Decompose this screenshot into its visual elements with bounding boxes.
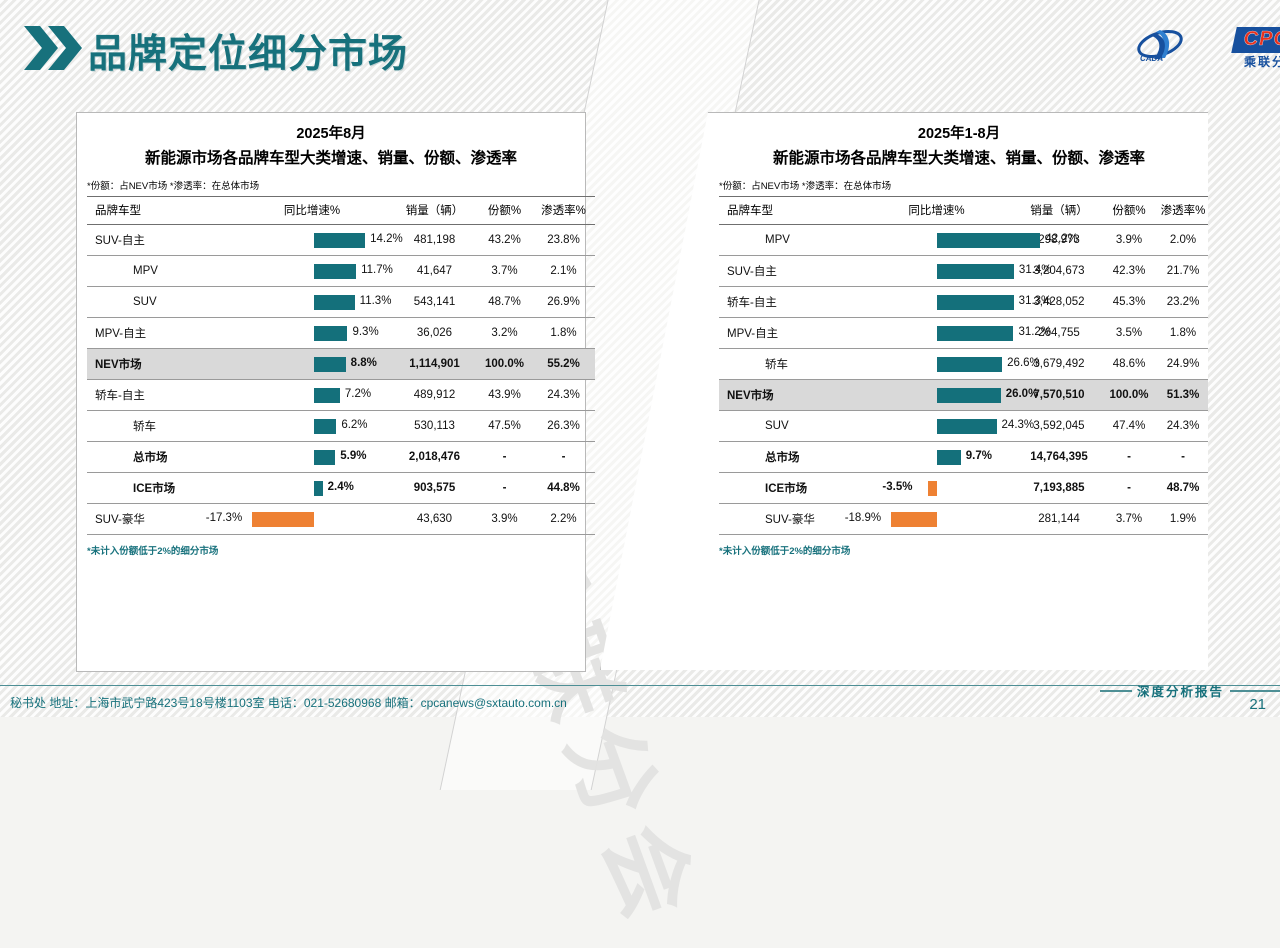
cell-share: 3.7%	[1104, 504, 1154, 535]
growth-bar	[937, 233, 1040, 248]
table-row: SUV-自主14.2%481,19843.2%23.8%	[87, 225, 595, 256]
growth-value-label: 26.0%	[1006, 387, 1039, 402]
table-row: NEV市场26.0%7,570,510100.0%51.3%	[719, 380, 1212, 411]
cell-penetration: 24.3%	[1154, 411, 1212, 442]
cell-growth-bar: 5.9%	[232, 442, 392, 473]
growth-bar	[937, 264, 1014, 279]
table-body: MPV42.2%298,9733.9%2.0%SUV-自主31.4%3,204,…	[719, 225, 1212, 535]
cell-share: 47.4%	[1104, 411, 1154, 442]
cell-sales: 2,018,476	[392, 442, 477, 473]
cell-sales: 281,144	[1014, 504, 1104, 535]
table-row: 轿车26.6%3,679,49248.6%24.9%	[719, 349, 1212, 380]
cell-share: 100.0%	[477, 349, 532, 380]
cell-model-name: SUV	[87, 287, 232, 318]
cell-sales: 903,575	[392, 473, 477, 504]
cell-model-name: 总市场	[719, 442, 859, 473]
growth-value-label: 2.4%	[328, 480, 354, 495]
growth-value-label: -18.9%	[845, 511, 881, 526]
table-row: SUV-自主31.4%3,204,67342.3%21.7%	[719, 256, 1212, 287]
cell-growth-bar: 9.7%	[859, 442, 1014, 473]
table-row: ICE市场-3.5%7,193,885-48.7%	[719, 473, 1212, 504]
growth-value-label: 11.3%	[360, 294, 392, 309]
logo-wordmark: CPCA 乘联分会	[1184, 26, 1262, 70]
footer-dash-left	[1100, 690, 1132, 692]
table-header-row: 品牌车型 同比增速% 销量（辆） 份额% 渗透率%	[87, 197, 595, 225]
panel-footnote: *未计入份额低于2%的细分市场	[719, 543, 1199, 557]
cell-model-name: 总市场	[87, 442, 232, 473]
cell-growth-bar: 31.3%	[859, 287, 1014, 318]
cell-model-name: NEV市场	[719, 380, 859, 411]
cell-model-name: SUV-自主	[87, 225, 232, 256]
col-share: 份额%	[477, 197, 532, 225]
growth-bar	[314, 233, 365, 248]
col-name: 品牌车型	[719, 197, 859, 225]
growth-bar	[314, 264, 356, 279]
growth-bar	[937, 388, 1001, 403]
cell-sales: 481,198	[392, 225, 477, 256]
cell-penetration: 55.2%	[532, 349, 595, 380]
cell-model-name: MPV-自主	[719, 318, 859, 349]
col-sales: 销量（辆）	[392, 197, 477, 225]
growth-value-label: 31.2%	[1018, 325, 1051, 340]
cell-growth-bar: 31.4%	[859, 256, 1014, 287]
cell-model-name: ICE市场	[87, 473, 232, 504]
growth-value-label: 8.8%	[351, 356, 377, 371]
growth-bar	[314, 481, 323, 496]
growth-bar	[928, 481, 937, 496]
cell-penetration: -	[532, 442, 595, 473]
table-row: SUV-豪华-18.9%281,1443.7%1.9%	[719, 504, 1212, 535]
footer-report-label: 深度分析报告	[1137, 681, 1224, 700]
table-body: SUV-自主14.2%481,19843.2%23.8%MPV11.7%41,6…	[87, 225, 595, 535]
table-row: SUV11.3%543,14148.7%26.9%	[87, 287, 595, 318]
logo-chinese-text: 乘联分会	[1234, 53, 1280, 70]
cell-penetration: 1.9%	[1154, 504, 1212, 535]
cell-growth-bar: 26.0%	[859, 380, 1014, 411]
market-table-2025-01-08: 品牌车型 同比增速% 销量（辆） 份额% 渗透率% MPV42.2%298,97…	[719, 196, 1212, 535]
col-growth: 同比增速%	[232, 197, 392, 225]
cell-penetration: 2.0%	[1154, 225, 1212, 256]
cell-sales: 14,764,395	[1014, 442, 1104, 473]
table-row: MPV11.7%41,6473.7%2.1%	[87, 256, 595, 287]
cell-growth-bar: -3.5%	[859, 473, 1014, 504]
growth-bar	[937, 326, 1013, 341]
cell-share: 3.2%	[477, 318, 532, 349]
growth-bar	[314, 295, 355, 310]
cell-growth-bar: 7.2%	[232, 380, 392, 411]
growth-value-label: 6.2%	[341, 418, 367, 433]
cell-sales: 41,647	[392, 256, 477, 287]
cell-growth-bar: -18.9%	[859, 504, 1014, 535]
cell-growth-bar: 24.3%	[859, 411, 1014, 442]
growth-bar	[314, 450, 335, 465]
cell-growth-bar: 26.6%	[859, 349, 1014, 380]
cell-model-name: MPV	[87, 256, 232, 287]
cell-penetration: 1.8%	[532, 318, 595, 349]
growth-bar	[891, 512, 937, 527]
panel-subtitle: 新能源市场各品牌车型大类增速、销量、份额、渗透率	[719, 146, 1199, 168]
cell-model-name: 轿车	[87, 411, 232, 442]
col-share: 份额%	[1104, 197, 1154, 225]
table-row: MPV-自主31.2%264,7553.5%1.8%	[719, 318, 1212, 349]
cell-penetration: 21.7%	[1154, 256, 1212, 287]
growth-value-label: -17.3%	[206, 511, 242, 526]
table-row: MPV-自主9.3%36,0263.2%1.8%	[87, 318, 595, 349]
cell-growth-bar: 6.2%	[232, 411, 392, 442]
growth-value-label: 9.3%	[352, 325, 378, 340]
col-penetration: 渗透率%	[532, 197, 595, 225]
cell-penetration: -	[1154, 442, 1212, 473]
footer-contact: 秘书处 地址：上海市武宁路423号18号楼1103室 电话：021-526809…	[10, 694, 567, 711]
cell-share: 3.9%	[477, 504, 532, 535]
cell-growth-bar: 8.8%	[232, 349, 392, 380]
cell-share: 3.5%	[1104, 318, 1154, 349]
cell-model-name: NEV市场	[87, 349, 232, 380]
col-penetration: 渗透率%	[1154, 197, 1212, 225]
cell-share: 43.9%	[477, 380, 532, 411]
cell-share: -	[477, 473, 532, 504]
cell-growth-bar: 14.2%	[232, 225, 392, 256]
panel-period-title: 2025年8月	[87, 122, 575, 143]
panel-note: *份额：占NEV市场 *渗透率：在总体市场	[87, 178, 575, 192]
panel-footnote: *未计入份额低于2%的细分市场	[87, 543, 575, 557]
cell-penetration: 26.3%	[532, 411, 595, 442]
col-growth: 同比增速%	[859, 197, 1014, 225]
growth-value-label: 31.4%	[1019, 263, 1052, 278]
cell-sales: 7,193,885	[1014, 473, 1104, 504]
cell-model-name: ICE市场	[719, 473, 859, 504]
growth-bar	[252, 512, 314, 527]
cell-penetration: 2.1%	[532, 256, 595, 287]
growth-value-label: 9.7%	[966, 449, 992, 464]
cell-share: -	[1104, 473, 1154, 504]
table-row: 轿车-自主31.3%3,428,05245.3%23.2%	[719, 287, 1212, 318]
growth-bar	[937, 295, 1014, 310]
table-row: NEV市场8.8%1,114,901100.0%55.2%	[87, 349, 595, 380]
cell-penetration: 1.8%	[1154, 318, 1212, 349]
table-row: 轿车-自主7.2%489,91243.9%24.3%	[87, 380, 595, 411]
cell-share: 3.7%	[477, 256, 532, 287]
cell-sales: 489,912	[392, 380, 477, 411]
cell-model-name: MPV	[719, 225, 859, 256]
cell-penetration: 26.9%	[532, 287, 595, 318]
growth-bar	[314, 357, 346, 372]
cell-model-name: 轿车-自主	[87, 380, 232, 411]
cell-share: 45.3%	[1104, 287, 1154, 318]
cell-sales: 543,141	[392, 287, 477, 318]
cell-model-name: SUV-自主	[719, 256, 859, 287]
table-header-row: 品牌车型 同比增速% 销量（辆） 份额% 渗透率%	[719, 197, 1212, 225]
cell-model-name: MPV-自主	[87, 318, 232, 349]
logo-sub-text: CADA	[1140, 54, 1163, 63]
cell-sales: 1,114,901	[392, 349, 477, 380]
growth-bar	[937, 450, 961, 465]
growth-value-label: 24.3%	[1002, 418, 1035, 433]
cell-growth-bar: 9.3%	[232, 318, 392, 349]
growth-value-label: -3.5%	[882, 480, 912, 495]
panel-note: *份额：占NEV市场 *渗透率：在总体市场	[719, 178, 1199, 192]
footer-divider	[0, 685, 1280, 686]
growth-value-label: 26.6%	[1007, 356, 1040, 371]
growth-value-label: 7.2%	[345, 387, 371, 402]
cell-penetration: 2.2%	[532, 504, 595, 535]
cell-share: 47.5%	[477, 411, 532, 442]
cell-penetration: 24.9%	[1154, 349, 1212, 380]
growth-bar	[314, 419, 336, 434]
cell-penetration: 23.2%	[1154, 287, 1212, 318]
table-row: MPV42.2%298,9733.9%2.0%	[719, 225, 1212, 256]
cell-share: -	[1104, 442, 1154, 473]
cell-penetration: 51.3%	[1154, 380, 1212, 411]
cell-share: 48.7%	[477, 287, 532, 318]
growth-value-label: 31.3%	[1019, 294, 1052, 309]
market-table-2025-08: 品牌车型 同比增速% 销量（辆） 份额% 渗透率% SUV-自主14.2%481…	[87, 196, 595, 535]
cell-sales: 43,630	[392, 504, 477, 535]
table-row: ICE市场2.4%903,575-44.8%	[87, 473, 595, 504]
growth-bar	[314, 388, 340, 403]
panel-subtitle: 新能源市场各品牌车型大类增速、销量、份额、渗透率	[87, 146, 575, 168]
logo-brand-text: CPCA	[1238, 28, 1280, 51]
cell-model-name: SUV-豪华	[719, 504, 859, 535]
cell-growth-bar: 42.2%	[859, 225, 1014, 256]
table-row: 轿车6.2%530,11347.5%26.3%	[87, 411, 595, 442]
table-row: 总市场5.9%2,018,476--	[87, 442, 595, 473]
cell-share: -	[477, 442, 532, 473]
cell-share: 43.2%	[477, 225, 532, 256]
table-row: SUV-豪华-17.3%43,6303.9%2.2%	[87, 504, 595, 535]
cell-sales: 36,026	[392, 318, 477, 349]
cell-growth-bar: 11.3%	[232, 287, 392, 318]
cell-sales: 530,113	[392, 411, 477, 442]
double-chevron-right-icon	[24, 26, 84, 70]
cell-growth-bar: 2.4%	[232, 473, 392, 504]
cell-penetration: 24.3%	[532, 380, 595, 411]
growth-bar	[314, 326, 347, 341]
cell-growth-bar: -17.3%	[232, 504, 392, 535]
cell-model-name: SUV	[719, 411, 859, 442]
cell-penetration: 23.8%	[532, 225, 595, 256]
footer-dash-right	[1230, 690, 1280, 692]
cell-growth-bar: 11.7%	[232, 256, 392, 287]
cell-share: 100.0%	[1104, 380, 1154, 411]
cell-model-name: 轿车	[719, 349, 859, 380]
table-row: SUV24.3%3,592,04547.4%24.3%	[719, 411, 1212, 442]
growth-bar	[937, 357, 1002, 372]
page-number: 21	[1249, 696, 1266, 713]
growth-value-label: 14.2%	[370, 232, 403, 247]
col-sales: 销量（辆）	[1014, 197, 1104, 225]
cell-share: 3.9%	[1104, 225, 1154, 256]
growth-value-label: 5.9%	[340, 449, 366, 464]
cell-share: 48.6%	[1104, 349, 1154, 380]
cell-growth-bar: 31.2%	[859, 318, 1014, 349]
cpca-logo: CPCA 乘联分会 CADA	[1136, 24, 1260, 72]
cell-share: 42.3%	[1104, 256, 1154, 287]
col-name: 品牌车型	[87, 197, 232, 225]
cell-penetration: 48.7%	[1154, 473, 1212, 504]
page-header: 品牌定位细分市场 CPCA 乘联分会 CADA	[0, 0, 1280, 95]
page-title: 品牌定位细分市场	[88, 23, 408, 79]
panel-period-title: 2025年1-8月	[719, 122, 1199, 143]
cell-penetration: 44.8%	[532, 473, 595, 504]
growth-bar	[937, 419, 997, 434]
growth-value-label: 42.2%	[1045, 232, 1078, 247]
table-row: 总市场9.7%14,764,395--	[719, 442, 1212, 473]
cell-model-name: 轿车-自主	[719, 287, 859, 318]
growth-value-label: 11.7%	[361, 263, 393, 278]
panel-2025-08: 2025年8月 新能源市场各品牌车型大类增速、销量、份额、渗透率 *份额：占NE…	[76, 112, 586, 672]
